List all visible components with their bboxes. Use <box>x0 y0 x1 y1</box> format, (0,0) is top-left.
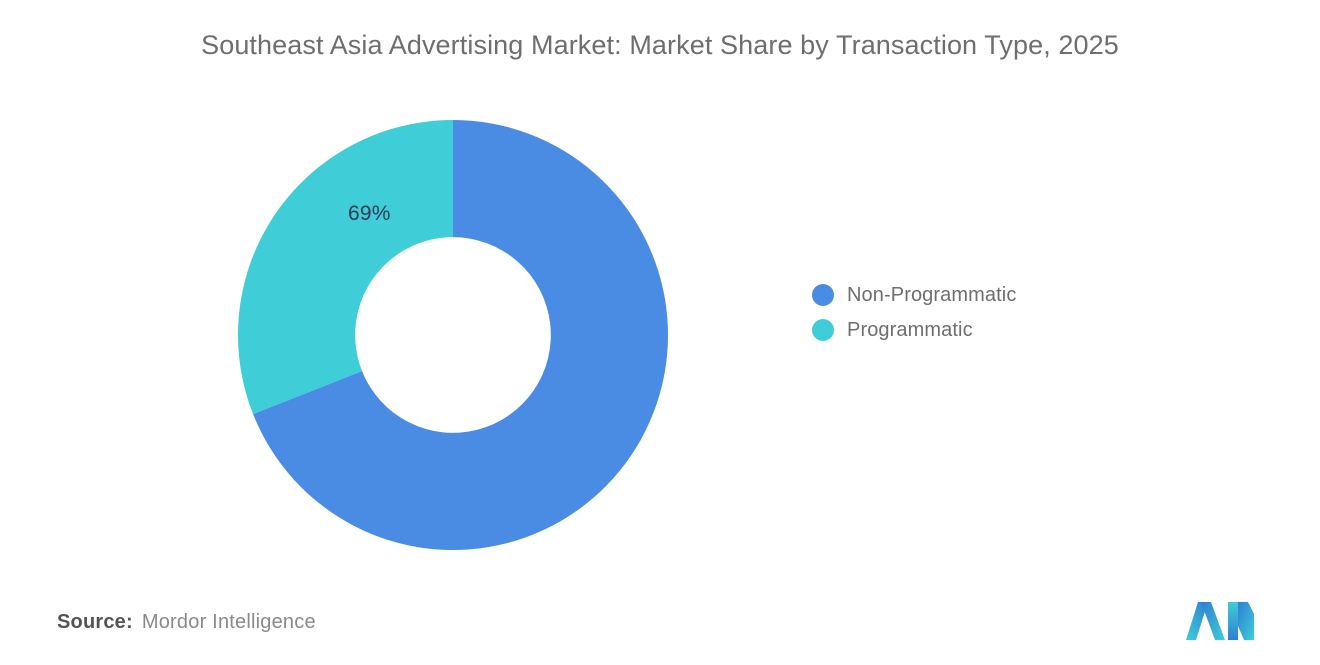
source-label: Source: <box>57 611 133 634</box>
logo-svg <box>1184 600 1256 642</box>
legend-label-programmatic: Programmatic <box>847 319 973 342</box>
donut-slice-programmatic[interactable] <box>238 120 453 414</box>
page-title: Southeast Asia Advertising Market: Marke… <box>0 30 1320 61</box>
chart-page: Southeast Asia Advertising Market: Marke… <box>0 0 1320 665</box>
legend-item-non-programmatic[interactable]: Non-Programmatic <box>812 283 1016 307</box>
slice-value-label-non-programmatic: 69% <box>348 202 391 226</box>
legend-swatch-icon-programmatic <box>812 319 834 341</box>
source-attribution: Source: Mordor Intelligence <box>57 611 316 634</box>
donut-chart-svg <box>238 120 668 550</box>
mordor-intelligence-logo-icon <box>1184 600 1256 642</box>
legend-swatch-icon-non-programmatic <box>812 284 834 306</box>
source-value: Mordor Intelligence <box>142 611 316 634</box>
legend-label-non-programmatic: Non-Programmatic <box>847 284 1016 307</box>
donut-chart: 69% <box>238 120 668 550</box>
legend-item-programmatic[interactable]: Programmatic <box>812 318 1016 342</box>
chart-legend: Non-Programmatic Programmatic <box>812 283 1016 342</box>
